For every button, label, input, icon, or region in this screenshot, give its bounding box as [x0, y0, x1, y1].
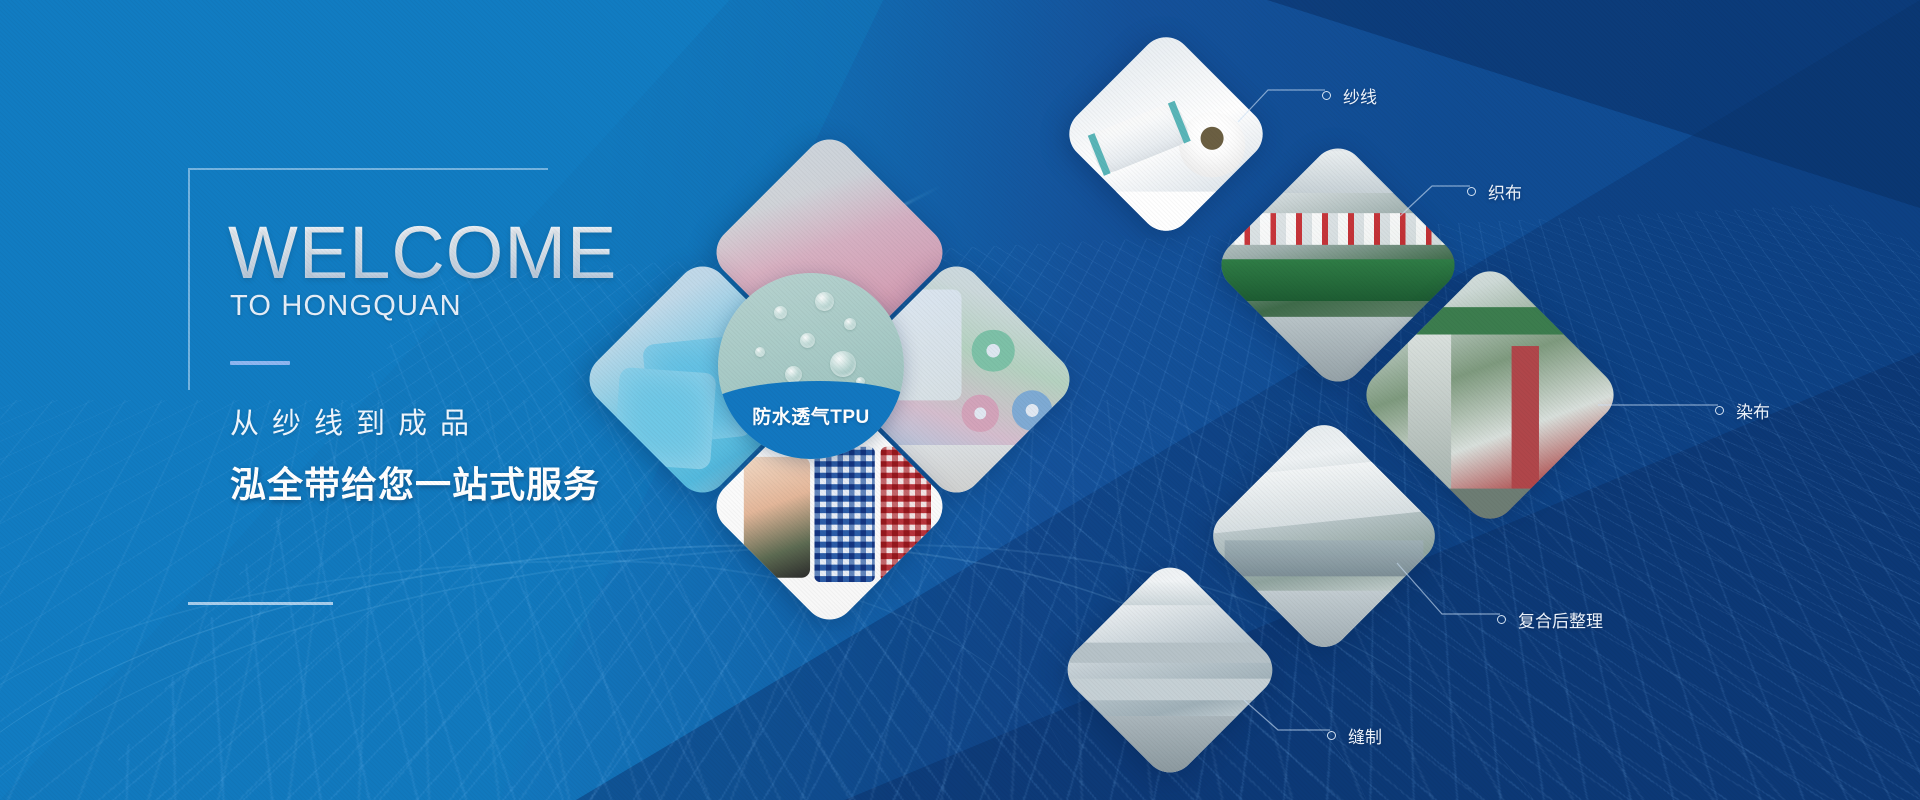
- tpu-feature-badge[interactable]: 防水透气TPU: [718, 273, 904, 459]
- process-tile-yarn[interactable]: [1059, 27, 1274, 242]
- process-tile-finishing[interactable]: [1202, 414, 1445, 657]
- callout-label-weaving: 织布: [1488, 179, 1522, 204]
- callout-dot-icon: [1322, 91, 1331, 100]
- hero-banner: WELCOME TO HONGQUAN 从纱线到成品 泓全带给您一站式服务: [0, 0, 1920, 800]
- callout-finishing: 复合后整理: [1497, 607, 1603, 632]
- callout-dot-icon: [1715, 406, 1724, 415]
- callout-label-dyeing: 染布: [1736, 398, 1770, 423]
- tpu-badge-label: 防水透气TPU: [718, 402, 904, 429]
- callout-dot-icon: [1327, 731, 1336, 740]
- process-tile-sewing[interactable]: [1057, 557, 1283, 783]
- callout-dyeing: 染布: [1715, 398, 1770, 423]
- callout-dot-icon: [1467, 187, 1476, 196]
- callout-dot-icon: [1497, 615, 1506, 624]
- callout-sewing: 缝制: [1327, 723, 1382, 748]
- callout-label-finishing: 复合后整理: [1518, 607, 1603, 632]
- callout-label-sewing: 缝制: [1348, 723, 1382, 748]
- callout-yarn: 纱线: [1322, 83, 1377, 108]
- callout-weaving: 织布: [1467, 179, 1522, 204]
- callout-label-yarn: 纱线: [1343, 83, 1377, 108]
- diamond-collage: 防水透气TPU: [0, 0, 1920, 800]
